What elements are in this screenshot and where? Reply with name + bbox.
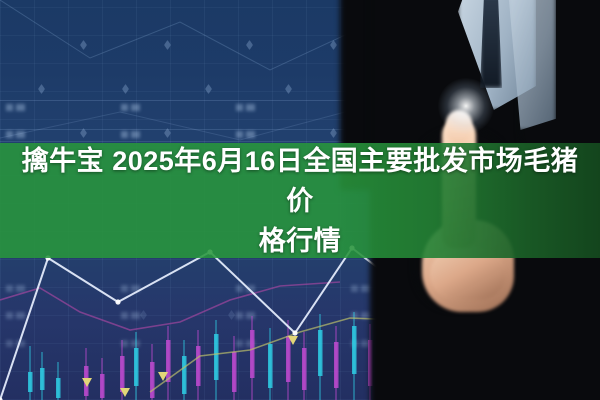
title-band: 擒牛宝 2025年6月16日全国主要批发市场毛猪价 格行情 — [0, 143, 600, 258]
price-report-banner: 擒牛宝 2025年6月16日全国主要批发市场毛猪价 格行情 — [0, 0, 600, 400]
page-title: 擒牛宝 2025年6月16日全国主要批发市场毛猪价 格行情 — [13, 141, 588, 261]
title-line-1: 擒牛宝 2025年6月16日全国主要批发市场毛猪价 — [22, 146, 579, 216]
title-line-2: 格行情 — [259, 226, 342, 256]
necktie — [480, 0, 502, 88]
fingertip-glow — [438, 78, 494, 134]
